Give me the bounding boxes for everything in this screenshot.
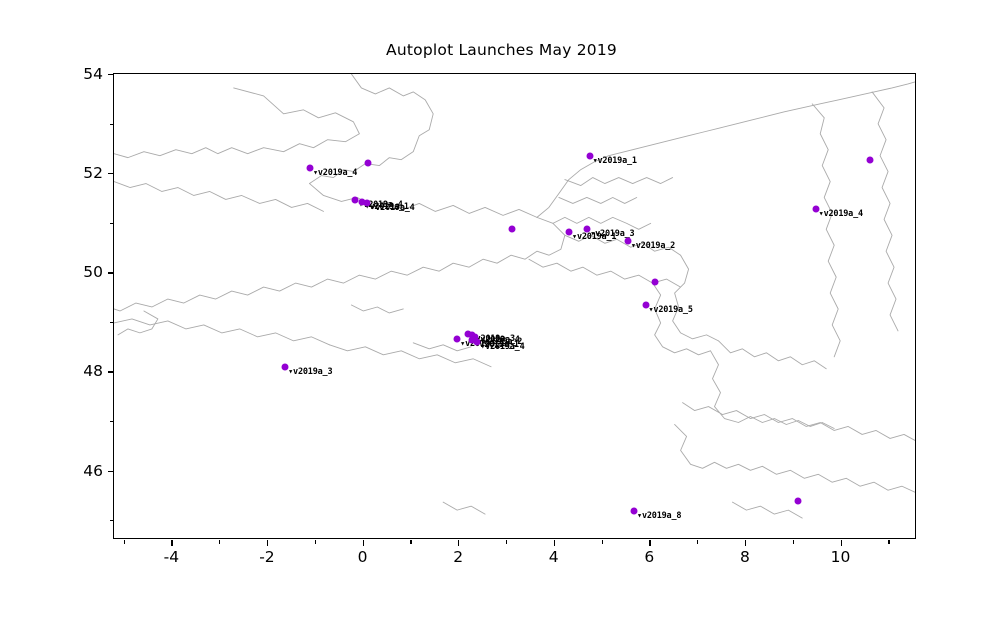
x-axis-tick-label: 4	[549, 548, 559, 566]
x-axis-minor-tick	[124, 540, 125, 544]
y-axis-tick-label: 54	[83, 65, 103, 83]
y-axis-tick	[108, 272, 114, 273]
chart-canvas: Autoplot Launches May 2019	[0, 0, 1003, 633]
scatter-point-label: ▾v2019a_4	[819, 209, 863, 219]
x-axis-minor-tick	[315, 540, 316, 544]
y-axis-tick	[108, 74, 114, 75]
y-axis-minor-tick	[110, 421, 114, 422]
x-axis-tick	[554, 540, 555, 546]
scatter-point[interactable]	[508, 225, 515, 232]
x-axis-minor-tick	[793, 540, 794, 544]
scatter-point-label: ▾v2019a_1	[593, 156, 637, 166]
y-axis-tick-label: 48	[83, 362, 103, 380]
x-axis-minor-tick	[410, 540, 411, 544]
y-axis-tick	[108, 371, 114, 372]
scatter-point[interactable]	[365, 160, 372, 167]
x-axis-tick	[841, 540, 842, 546]
x-axis-tick	[458, 540, 459, 546]
x-axis-minor-tick	[506, 540, 507, 544]
y-axis-minor-tick	[110, 124, 114, 125]
y-axis-tick-label: 52	[83, 164, 103, 182]
page-title: Autoplot Launches May 2019	[0, 41, 1003, 59]
y-axis-tick-label: 50	[83, 263, 103, 281]
scatter-point[interactable]	[652, 279, 659, 286]
scatter-point[interactable]	[795, 498, 802, 505]
scatter-points: ▾v2019a_4▾v2019a_4▾v2019a_1▾v2019a_4▾v20…	[114, 74, 915, 538]
scatter-point-label: ▾v2019a_4	[370, 203, 414, 213]
plot-area: ▾v2019a_4▾v2019a_4▾v2019a_1▾v2019a_4▾v20…	[113, 73, 916, 539]
x-axis-tick-label: 8	[740, 548, 750, 566]
x-axis-tick-label: -2	[259, 548, 274, 566]
scatter-point[interactable]	[867, 156, 874, 163]
scatter-point-label: ▾v2019a_4	[480, 342, 524, 352]
x-axis-tick-label: 2	[453, 548, 463, 566]
x-axis-minor-tick	[888, 540, 889, 544]
scatter-point-label: ▾v2019a_8	[637, 511, 681, 521]
x-axis-tick	[267, 540, 268, 546]
x-axis-tick	[171, 540, 172, 546]
x-axis-tick-label: 10	[831, 548, 851, 566]
y-axis-tick	[108, 173, 114, 174]
y-axis-tick-label: 46	[83, 462, 103, 480]
scatter-point-label: ▾v2019a_4	[313, 168, 357, 178]
scatter-point-label: ▾v2019a_2	[631, 241, 675, 251]
x-axis-tick-label: 6	[644, 548, 654, 566]
x-axis-tick-label: 0	[358, 548, 368, 566]
x-axis-minor-tick	[602, 540, 603, 544]
x-axis-tick-label: -4	[164, 548, 179, 566]
x-axis-tick	[649, 540, 650, 546]
x-axis-minor-tick	[219, 540, 220, 544]
y-axis-minor-tick	[110, 322, 114, 323]
x-axis-tick	[745, 540, 746, 546]
scatter-point-label: ▾v2019a_3	[288, 367, 332, 377]
y-axis-minor-tick	[110, 520, 114, 521]
x-axis-tick	[363, 540, 364, 546]
x-axis-minor-tick	[697, 540, 698, 544]
scatter-point-label: ▾v2019a_5	[649, 305, 693, 315]
y-axis-minor-tick	[110, 223, 114, 224]
y-axis-tick	[108, 471, 114, 472]
